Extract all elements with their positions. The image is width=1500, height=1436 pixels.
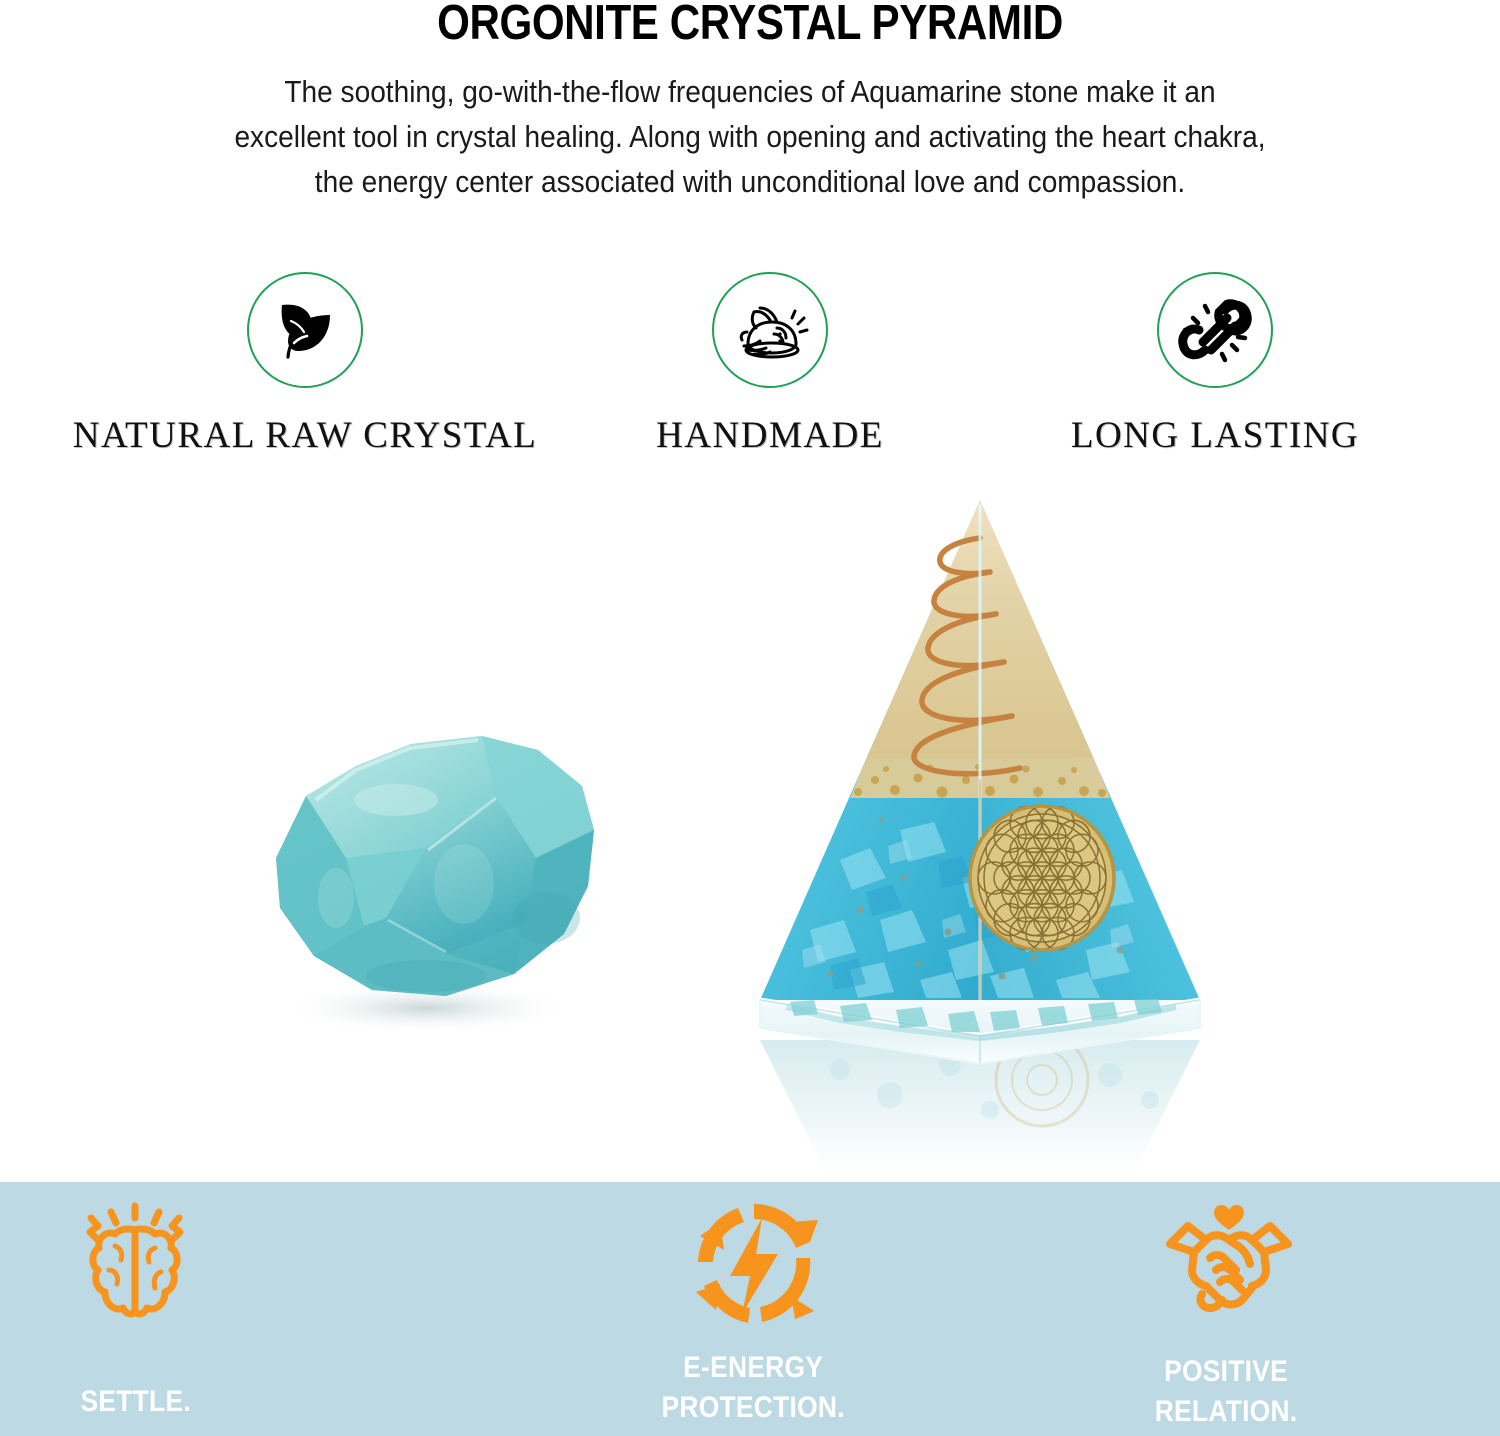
product-infographic: ORGONITE CRYSTAL PYRAMID The soothing, g… bbox=[0, 0, 1500, 1436]
benefit-label-line-1: SETTLE. bbox=[81, 1382, 191, 1422]
benefit-positive-relation: POSITIVE RELATION. bbox=[1000, 1182, 1500, 1436]
benefit-e-energy-protection: E-ENERGY PROTECTION. bbox=[500, 1182, 1000, 1436]
subtitle-line-1: The soothing, go-with-the-flow frequenci… bbox=[60, 70, 1440, 115]
feature-long-lasting: LONG LASTING bbox=[985, 272, 1445, 457]
subtitle-line-2: excellent tool in crystal healing. Along… bbox=[60, 115, 1440, 160]
benefit-label: E-ENERGY PROTECTION. bbox=[661, 1348, 844, 1428]
benefit-label-line-2: PROTECTION. bbox=[661, 1388, 844, 1428]
handmade-pottery-icon bbox=[712, 272, 828, 388]
product-images bbox=[0, 470, 1500, 1182]
handshake-heart-icon bbox=[1154, 1196, 1304, 1336]
subtitle-line-3: the energy center associated with uncond… bbox=[60, 160, 1440, 205]
chain-link-icon bbox=[1157, 272, 1273, 388]
feature-natural-raw-crystal: NATURAL RAW CRYSTAL bbox=[55, 272, 555, 457]
energy-bolt-recycle-icon bbox=[686, 1196, 822, 1332]
brain-icon bbox=[65, 1196, 205, 1336]
benefits-banner: SETTLE. bbox=[0, 1182, 1500, 1436]
benefit-label-line-2: RELATION. bbox=[1155, 1392, 1298, 1432]
flower-of-life-symbol bbox=[970, 806, 1114, 950]
benefit-label: SETTLE. bbox=[81, 1382, 191, 1422]
raw-aquamarine-stone bbox=[196, 708, 636, 1058]
feature-label: LONG LASTING bbox=[1071, 414, 1359, 457]
feature-label: NATURAL RAW CRYSTAL bbox=[73, 414, 538, 457]
benefit-label-line-1: POSITIVE bbox=[1155, 1352, 1298, 1392]
leaf-icon bbox=[247, 272, 363, 388]
feature-label: HANDMADE bbox=[656, 414, 884, 457]
benefit-settle: SETTLE. bbox=[0, 1182, 500, 1436]
feature-row: NATURAL RAW CRYSTAL bbox=[0, 272, 1500, 457]
feature-handmade: HANDMADE bbox=[555, 272, 985, 457]
page-title: ORGONITE CRYSTAL PYRAMID bbox=[105, 0, 1395, 46]
page-subtitle: The soothing, go-with-the-flow frequenci… bbox=[60, 46, 1440, 205]
header: ORGONITE CRYSTAL PYRAMID The soothing, g… bbox=[0, 0, 1500, 205]
benefit-label-line-1: E-ENERGY bbox=[661, 1348, 844, 1388]
benefit-label: POSITIVE RELATION. bbox=[1155, 1352, 1298, 1432]
orgonite-crystal-pyramid bbox=[690, 480, 1270, 1180]
